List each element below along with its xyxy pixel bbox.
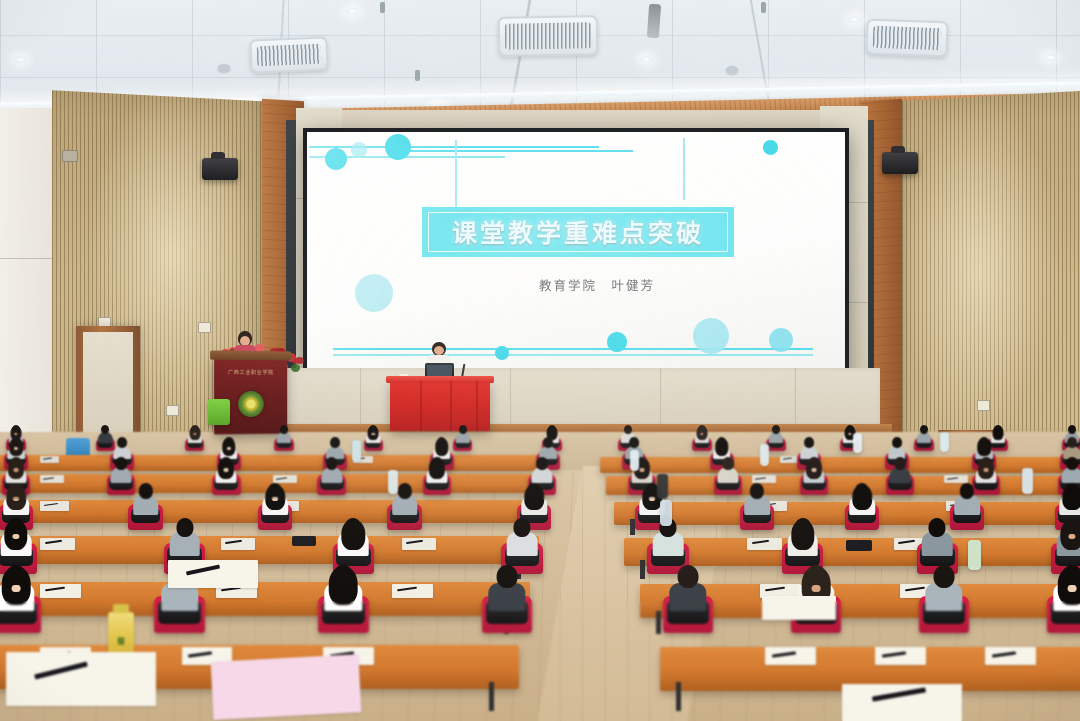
- circle-bottom-mid: [607, 332, 627, 352]
- audience-head: [536, 457, 548, 470]
- desk-row: [606, 476, 1080, 495]
- phone-icon: [292, 536, 316, 546]
- sprinkler-icon: [380, 2, 385, 13]
- audience-head: [548, 425, 556, 434]
- audience-head: [960, 483, 974, 499]
- audience-member: [976, 455, 996, 482]
- audience-head: [497, 565, 518, 588]
- audience-member: [216, 455, 236, 482]
- audience-head: [678, 565, 699, 588]
- audience-member: [6, 455, 26, 482]
- audience-neck: [700, 433, 703, 436]
- audience-head: [1065, 483, 1079, 499]
- wall-outlet-icon[interactable]: [977, 400, 990, 411]
- notebook: [168, 560, 258, 588]
- audience-member: [788, 516, 817, 556]
- audience-member: [890, 455, 910, 482]
- audience-head: [1066, 457, 1078, 470]
- audience-member: [769, 424, 782, 442]
- audience-neck: [812, 468, 817, 472]
- water-bottle: [660, 500, 672, 526]
- audience-member: [718, 455, 738, 482]
- wall-speaker-icon: [202, 158, 238, 180]
- audience-member: [134, 482, 158, 515]
- audience-member: [991, 424, 1004, 442]
- sprinkler-icon: [761, 2, 766, 13]
- desk-row: [0, 455, 546, 471]
- circle-top-mid: [385, 134, 411, 160]
- circle-bottom-right-large: [693, 318, 729, 354]
- audience-neck: [272, 497, 278, 502]
- desk-row: [0, 536, 539, 564]
- sprinkler-icon: [415, 70, 420, 81]
- audience-head: [804, 437, 814, 448]
- ceiling-downlight: [848, 16, 861, 23]
- audience-head: [994, 425, 1002, 434]
- audience-member: [850, 482, 874, 515]
- audience-member: [522, 482, 546, 515]
- audience-neck: [14, 468, 19, 472]
- audience-neck: [640, 468, 645, 472]
- audience-member: [263, 482, 287, 515]
- ceiling-downlight: [1044, 54, 1057, 61]
- ac-vent-icon: [865, 19, 948, 58]
- desk-row: [600, 457, 1080, 473]
- ceiling-downlight: [640, 56, 653, 63]
- audience-head: [722, 457, 734, 470]
- wall-outlet-icon[interactable]: [198, 322, 211, 333]
- projection-screen-frame: 课堂教学重难点突破 教育学院 叶健芳: [303, 128, 849, 378]
- audience-head: [855, 483, 869, 499]
- circle-bottom-far-right: [769, 328, 793, 352]
- smoke-detector-icon: [218, 64, 230, 72]
- circle-left-pale-large: [355, 274, 393, 312]
- audience-neck: [812, 585, 821, 592]
- audience-member: [188, 424, 201, 442]
- ac-vent-icon: [498, 15, 599, 57]
- audience-neck: [984, 468, 989, 472]
- line-bottom-1: [333, 348, 813, 350]
- audience-neck: [193, 433, 196, 436]
- audience-member: [926, 563, 961, 611]
- flower-blossom: [293, 359, 298, 363]
- audience-neck: [12, 585, 21, 592]
- flower-blossom: [291, 364, 300, 372]
- audience-neck: [649, 497, 655, 502]
- circle-bottom-left-small: [495, 346, 509, 360]
- ac-vent-icon: [249, 36, 328, 73]
- audience-head: [624, 425, 632, 434]
- water-bottle: [352, 440, 361, 462]
- desk-leg: [656, 611, 661, 634]
- audience-neck: [14, 433, 17, 436]
- notebook: [6, 652, 156, 706]
- audience-head: [138, 483, 152, 499]
- audience-neck: [224, 468, 229, 472]
- audience-head: [934, 565, 955, 588]
- water-bottle: [657, 474, 668, 499]
- audience-head: [979, 437, 989, 448]
- audience-member: [367, 424, 380, 442]
- audience-member: [277, 424, 290, 442]
- circle-top-right: [763, 140, 778, 155]
- podium-institution-label: 广西工业职业学院: [214, 369, 287, 376]
- audience-head: [330, 437, 340, 448]
- audience-head: [929, 518, 946, 537]
- audience-member: [170, 516, 199, 556]
- audience-head: [437, 437, 447, 448]
- line-bottom-2: [333, 354, 813, 356]
- audience-member: [923, 516, 952, 556]
- notebook: [842, 684, 962, 721]
- audience-head: [1067, 437, 1077, 448]
- audience-member: [322, 455, 342, 482]
- audience-member: [804, 455, 824, 482]
- wall-outlet-icon[interactable]: [166, 405, 179, 416]
- phone-icon: [846, 540, 872, 551]
- audience-member: [339, 516, 368, 556]
- audience-neck: [1068, 585, 1077, 592]
- audience-member: [456, 424, 469, 442]
- water-bottle: [630, 450, 639, 471]
- wall-mounted-fixture: [62, 150, 78, 162]
- line-top-3: [403, 150, 633, 152]
- audience-member: [745, 482, 769, 515]
- audience-head: [176, 518, 193, 537]
- audience-head: [513, 518, 530, 537]
- audience-head: [794, 518, 811, 537]
- audience-head: [459, 425, 467, 434]
- audience-head: [894, 457, 906, 470]
- desk-leg: [676, 682, 681, 711]
- notebook: [762, 596, 836, 620]
- audience-head: [772, 425, 780, 434]
- audience-member: [955, 482, 979, 515]
- green-stool: [208, 399, 230, 425]
- pink-paper: [211, 654, 362, 720]
- audience-neck: [848, 433, 851, 436]
- wall-speaker-icon: [882, 152, 918, 174]
- audience-member: [2, 516, 31, 556]
- audience-head: [717, 437, 727, 448]
- audience-head: [345, 518, 362, 537]
- audience-member: [99, 424, 112, 442]
- audience-member: [326, 563, 361, 611]
- podium-top-surface: [210, 351, 291, 361]
- projection-screen: 课堂教学重难点突破 教育学院 叶健芳: [307, 132, 845, 374]
- audience-neck: [13, 497, 19, 502]
- audience-head: [527, 483, 541, 499]
- water-bottle: [1022, 468, 1033, 494]
- circle-top-left-small: [325, 148, 347, 170]
- audience-head: [117, 437, 127, 448]
- audience-head: [629, 437, 639, 448]
- audience-head: [326, 457, 338, 470]
- audience-member: [670, 563, 705, 611]
- water-bottle: [853, 433, 862, 453]
- vline-right: [683, 138, 685, 200]
- water-bottle: [968, 540, 981, 570]
- slide-title-band: 课堂教学重难点突破: [422, 207, 734, 257]
- audience-member: [1058, 516, 1080, 556]
- audience-member: [917, 424, 930, 442]
- audience-head: [543, 437, 553, 448]
- university-seal-emblem-icon: [238, 391, 264, 417]
- water-bottle: [940, 432, 949, 452]
- smoke-detector-icon: [726, 66, 738, 74]
- slide-subtitle: 教育学院 叶健芳: [539, 275, 655, 294]
- lecture-hall-photo: 课堂教学重难点突破 教育学院 叶健芳 广西工业职业学院: [0, 0, 1080, 721]
- audience-member: [532, 455, 552, 482]
- ceiling-downlight: [14, 56, 27, 63]
- circle-top-left-pale: [351, 142, 367, 158]
- audience-head: [101, 425, 109, 434]
- red-draped-table: [390, 381, 490, 431]
- audience-member: [508, 516, 537, 556]
- water-bottle: [760, 444, 769, 466]
- audience-head: [1068, 425, 1076, 434]
- audience-head: [431, 457, 443, 470]
- audience-member: [4, 482, 28, 515]
- audience-head: [892, 437, 902, 448]
- desk-leg: [640, 560, 645, 580]
- audience-member: [427, 455, 447, 482]
- audience-head: [750, 483, 764, 499]
- audience-member: [1054, 563, 1080, 611]
- audience-head: [920, 425, 928, 434]
- slide-title: 课堂教学重难点突破: [452, 214, 704, 250]
- ceiling-hanging-fixture: [647, 4, 661, 39]
- audience-head: [333, 565, 354, 588]
- audience-member: [695, 424, 708, 442]
- water-bottle: [388, 470, 398, 494]
- audience-member: [111, 455, 131, 482]
- audience-head: [280, 425, 288, 434]
- audience-head: [115, 457, 127, 470]
- audience-member: [1062, 455, 1080, 482]
- ceiling-downlight: [346, 8, 359, 15]
- audience-member: [0, 563, 34, 611]
- audience-neck: [372, 433, 375, 436]
- audience-member: [489, 563, 524, 611]
- desk-leg: [489, 682, 494, 711]
- audience-head: [397, 483, 411, 499]
- audience-member: [1060, 482, 1080, 515]
